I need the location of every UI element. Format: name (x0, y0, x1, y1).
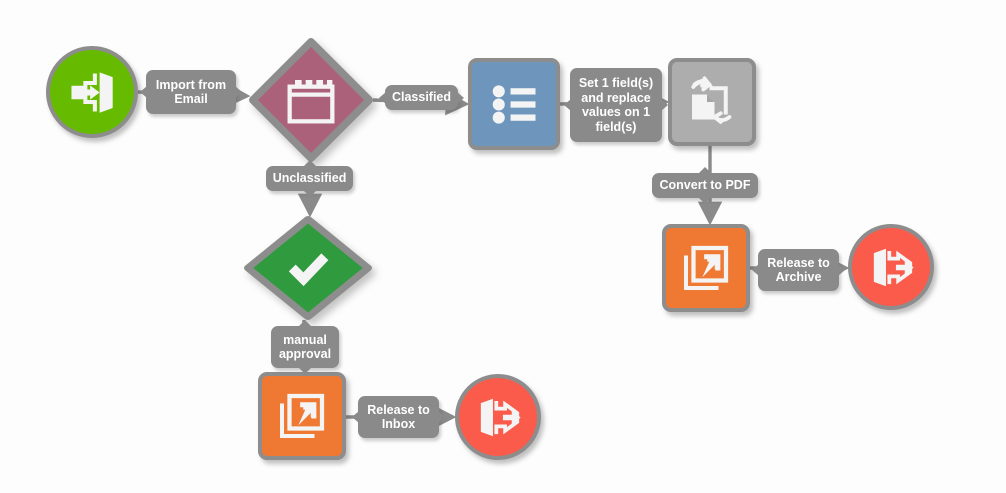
door-exit-icon (472, 391, 525, 444)
edge-label-release-to-inbox[interactable]: Release to Inbox (358, 396, 439, 438)
classification-decision-node[interactable] (249, 38, 373, 162)
export-frame-arrow-icon (272, 386, 332, 446)
export-frame-arrow-icon (676, 238, 736, 298)
end-archive-node[interactable] (848, 224, 934, 310)
edge-label-unclassified[interactable]: Unclassified (266, 166, 353, 191)
workflow-diagram-canvas: Import from EmailClassifiedSet 1 field(s… (0, 0, 1006, 493)
bulleted-list-icon (483, 73, 546, 136)
edge-label-convert-to-pdf[interactable]: Convert to PDF (652, 173, 758, 198)
edge-label-manual-approval[interactable]: manual approval (271, 326, 339, 368)
edge-label-set-and-replace-fields[interactable]: Set 1 field(s) and replace values on 1 f… (570, 68, 662, 142)
edge-label-release-to-archive[interactable]: Release to Archive (758, 249, 839, 291)
release-archive-node[interactable] (662, 224, 750, 312)
document-convert-icon (682, 72, 742, 132)
set-fields-node[interactable] (468, 58, 560, 150)
checkmark-icon (244, 216, 372, 320)
convert-to-pdf-node[interactable] (668, 58, 756, 146)
edge-label-classified[interactable]: Classified (385, 85, 458, 110)
import-start-node[interactable] (46, 46, 138, 138)
release-inbox-node[interactable] (258, 372, 346, 460)
manual-approval-decision-node[interactable] (244, 216, 372, 320)
window-frame-icon (249, 38, 373, 162)
end-inbox-node[interactable] (455, 374, 541, 460)
door-enter-icon (64, 64, 121, 121)
door-exit-icon (865, 241, 918, 294)
edge-label-import-from-email[interactable]: Import from Email (146, 70, 236, 114)
